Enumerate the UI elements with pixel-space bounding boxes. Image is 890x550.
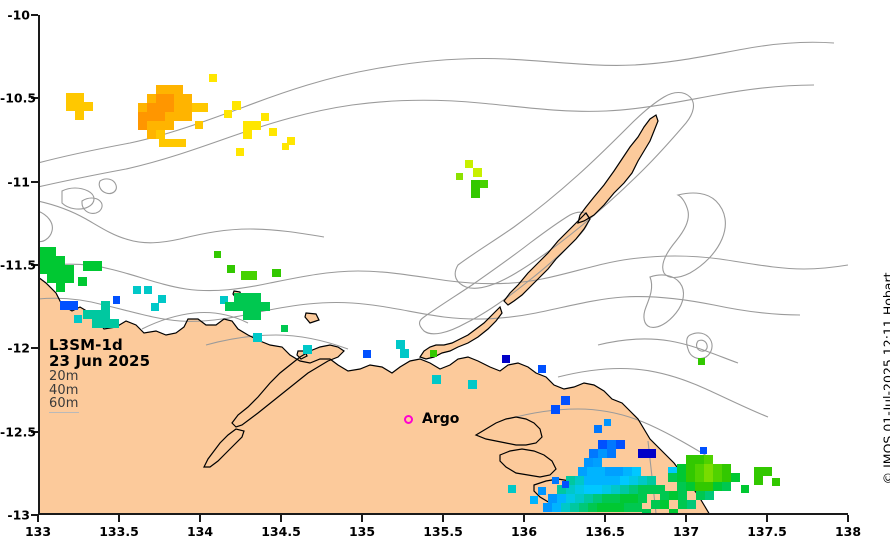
x-tick [37,515,39,522]
y-tick-label: -12 [0,341,30,356]
x-tick-label: 133.5 [99,524,139,539]
x-tick [685,515,687,522]
argo-label: Argo [422,411,459,427]
x-tick-label: 137.5 [747,524,787,539]
y-tick [31,181,38,183]
x-tick-label: 133 [25,524,51,539]
credit-text: © IMOS 01-Jul-2025 12:11 Hobart [881,273,890,485]
legend-date: 23 Jun 2025 [49,354,150,370]
x-tick-label: 137 [673,524,699,539]
legend-depth-40m: 40m [49,384,150,398]
legend-depth-20m: 20m [49,370,150,384]
x-tick-label: 136.5 [585,524,625,539]
copyright-credit: © IMOS 01-Jul-2025 12:11 Hobart [881,273,890,485]
x-tick-label: 135.5 [423,524,463,539]
map-plot-area[interactable] [38,15,848,515]
y-tick [31,514,38,516]
x-tick [442,515,444,522]
y-tick-label: -11 [0,174,30,189]
x-tick-label: 138 [835,524,861,539]
x-tick [280,515,282,522]
x-tick [361,515,363,522]
y-tick-label: -10 [0,8,30,23]
map-figure: L3SM-1d 23 Jun 2025 20m 40m 60m Argo © I… [0,0,890,550]
x-tick [604,515,606,522]
x-tick-label: 134.5 [261,524,301,539]
argo-float-marker[interactable]: Argo [404,411,459,427]
x-tick [766,515,768,522]
y-tick-label: -10.5 [0,91,30,106]
x-tick [118,515,120,522]
y-tick [31,347,38,349]
y-tick-label: -13 [0,508,30,523]
x-tick [199,515,201,522]
x-tick-label: 134 [187,524,213,539]
x-tick-label: 136 [511,524,537,539]
x-tick [523,515,525,522]
x-tick [847,515,849,522]
map-legend: L3SM-1d 23 Jun 2025 20m 40m 60m [49,338,150,413]
map-canvas [38,15,848,515]
x-tick-label: 135 [349,524,375,539]
y-tick [31,14,38,16]
legend-depth-60m-label: 60m [49,397,79,413]
y-tick-label: -11.5 [0,258,30,273]
legend-depth-60m: 60m [49,397,150,413]
y-tick-label: -12.5 [0,424,30,439]
argo-circle-icon [404,415,413,424]
